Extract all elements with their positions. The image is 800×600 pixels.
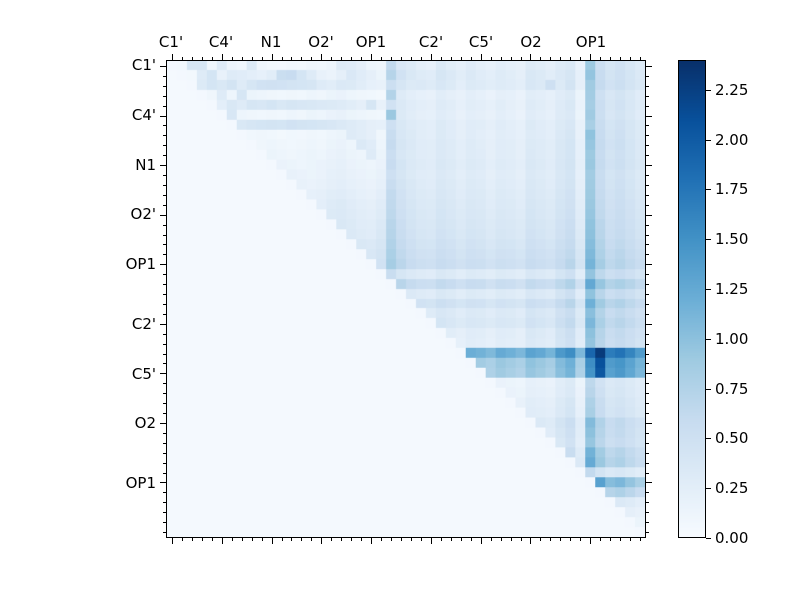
y-tick-right-16 [645,225,649,226]
x-tick-bottom-31 [481,537,482,544]
x-tick-top-6 [232,57,233,61]
y-tick-label-1: C4' [132,106,156,124]
x-tick-top-10 [272,54,273,61]
colorbar-tick-2 [706,438,711,439]
x-tick-top-30 [471,57,472,61]
x-tick-top-1 [182,57,183,61]
x-tick-bottom-41 [580,537,581,541]
colorbar-tick-label-6: 1.50 [715,230,748,248]
y-tick-left-25 [163,314,167,315]
x-tick-top-41 [580,57,581,61]
y-tick-right-18 [645,244,649,245]
y-tick-left-8 [163,145,167,146]
x-tick-top-46 [630,57,631,61]
x-tick-top-9 [262,57,263,61]
y-tick-right-22 [645,284,649,285]
x-tick-bottom-39 [560,537,561,541]
x-tick-top-37 [540,57,541,61]
x-tick-top-17 [341,57,342,61]
y-tick-right-42 [645,482,652,483]
x-tick-top-35 [521,57,522,61]
x-tick-top-47 [640,57,641,61]
x-tick-label-7: O2 [520,33,541,51]
y-tick-right-13 [645,195,649,196]
colorbar-tick-3 [706,389,711,390]
y-tick-right-5 [645,116,652,117]
x-tick-top-28 [451,57,452,61]
colorbar-tick-label-9: 2.25 [715,81,748,99]
x-tick-bottom-43 [600,537,601,541]
y-tick-right-20 [645,264,652,265]
y-tick-left-22 [163,284,167,285]
y-tick-left-24 [163,304,167,305]
x-tick-bottom-27 [441,537,442,541]
y-tick-right-2 [645,86,649,87]
colorbar-tick-1 [706,488,711,489]
x-tick-top-19 [361,57,362,61]
y-tick-right-39 [645,453,649,454]
y-tick-left-37 [163,433,167,434]
y-tick-left-28 [163,344,167,345]
y-tick-label-2: N1 [135,156,156,174]
y-tick-left-44 [163,502,167,503]
x-tick-top-45 [620,57,621,61]
y-tick-left-4 [163,106,167,107]
x-tick-bottom-25 [421,537,422,541]
x-tick-top-38 [550,57,551,61]
x-tick-bottom-42 [590,537,591,544]
y-tick-right-4 [645,106,649,107]
x-tick-bottom-35 [521,537,522,541]
y-tick-left-34 [163,403,167,404]
y-tick-left-7 [163,135,167,136]
colorbar-tick-label-5: 1.25 [715,280,748,298]
y-tick-right-31 [645,373,652,374]
y-tick-left-10 [160,165,167,166]
y-tick-left-39 [163,453,167,454]
x-tick-top-18 [351,57,352,61]
y-tick-right-8 [645,145,649,146]
x-tick-top-43 [600,57,601,61]
y-tick-left-17 [163,235,167,236]
x-tick-bottom-30 [471,537,472,541]
y-tick-left-13 [163,195,167,196]
y-tick-left-29 [163,354,167,355]
x-tick-bottom-4 [212,537,213,541]
y-tick-left-47 [163,532,167,533]
y-tick-right-45 [645,512,649,513]
x-tick-top-25 [421,57,422,61]
x-tick-bottom-29 [461,537,462,541]
y-tick-left-9 [163,155,167,156]
x-tick-bottom-40 [570,537,571,541]
y-tick-right-6 [645,125,649,126]
x-tick-bottom-1 [182,537,183,541]
y-tick-right-28 [645,344,649,345]
y-tick-right-46 [645,522,649,523]
colorbar-tick-label-3: 0.75 [715,380,748,398]
x-tick-top-7 [242,57,243,61]
y-tick-right-23 [645,294,649,295]
y-tick-right-37 [645,433,649,434]
x-tick-label-0: C1' [159,33,183,51]
x-tick-bottom-9 [262,537,263,541]
x-tick-bottom-38 [550,537,551,541]
x-tick-bottom-2 [192,537,193,541]
x-tick-bottom-33 [501,537,502,541]
y-tick-left-19 [163,254,167,255]
x-tick-bottom-23 [401,537,402,541]
x-tick-bottom-16 [331,537,332,541]
x-tick-top-39 [560,57,561,61]
colorbar-tick-8 [706,140,711,141]
colorbar-tick-5 [706,289,711,290]
x-tick-top-34 [511,57,512,61]
colorbar-tick-label-7: 1.75 [715,180,748,198]
x-tick-bottom-34 [511,537,512,541]
y-tick-left-33 [163,393,167,394]
x-tick-bottom-19 [361,537,362,541]
colorbar-tick-label-2: 0.50 [715,429,748,447]
y-tick-right-10 [645,165,652,166]
x-tick-bottom-45 [620,537,621,541]
y-tick-right-43 [645,492,649,493]
x-tick-top-8 [252,57,253,61]
x-tick-top-15 [321,54,322,61]
x-tick-bottom-21 [381,537,382,541]
x-tick-top-0 [172,54,173,61]
y-tick-right-29 [645,354,649,355]
x-tick-label-4: OP1 [356,33,386,51]
matplotlib-figure: C1'C4'N1O2'OP1C2'C5'O2OP1 C1'C4'N1O2'OP1… [0,0,800,600]
y-tick-right-32 [645,383,649,384]
heatmap-image [167,61,645,537]
y-tick-left-26 [160,324,167,325]
y-tick-left-27 [163,334,167,335]
x-tick-bottom-8 [252,537,253,541]
y-tick-left-42 [160,482,167,483]
x-tick-top-29 [461,57,462,61]
x-tick-bottom-3 [202,537,203,541]
x-tick-bottom-15 [321,537,322,544]
x-tick-bottom-32 [491,537,492,541]
x-tick-bottom-26 [431,537,432,544]
y-tick-left-46 [163,522,167,523]
x-tick-top-42 [590,54,591,61]
y-tick-right-1 [645,76,649,77]
y-tick-left-11 [163,175,167,176]
y-tick-left-45 [163,512,167,513]
y-tick-label-3: O2' [131,205,156,223]
colorbar-tick-6 [706,239,711,240]
y-tick-left-31 [160,373,167,374]
x-tick-bottom-10 [272,537,273,544]
x-tick-top-20 [371,54,372,61]
x-tick-top-13 [301,57,302,61]
x-tick-top-16 [331,57,332,61]
y-tick-label-0: C1' [132,56,156,74]
colorbar-tick-9 [706,90,711,91]
colorbar-tick-0 [706,538,711,539]
x-tick-label-1: C4' [209,33,233,51]
y-tick-left-36 [160,423,167,424]
y-tick-right-12 [645,185,649,186]
x-tick-top-24 [411,57,412,61]
x-tick-top-27 [441,57,442,61]
x-tick-bottom-20 [371,537,372,544]
y-tick-right-3 [645,96,649,97]
y-tick-left-21 [163,274,167,275]
x-tick-top-4 [212,57,213,61]
heatmap-axes [166,60,646,538]
x-tick-bottom-14 [311,537,312,541]
y-tick-left-3 [163,96,167,97]
y-tick-right-14 [645,205,649,206]
x-tick-top-5 [222,54,223,61]
x-tick-bottom-6 [232,537,233,541]
x-tick-bottom-46 [630,537,631,541]
y-tick-right-17 [645,235,649,236]
x-tick-top-36 [530,54,531,61]
y-tick-left-5 [160,116,167,117]
colorbar-tick-label-0: 0.00 [715,529,748,547]
y-tick-left-32 [163,383,167,384]
x-tick-top-33 [501,57,502,61]
x-tick-label-2: N1 [261,33,282,51]
y-tick-right-47 [645,532,649,533]
y-tick-right-9 [645,155,649,156]
x-tick-bottom-44 [610,537,611,541]
x-tick-top-44 [610,57,611,61]
y-tick-left-20 [160,264,167,265]
x-tick-top-21 [381,57,382,61]
x-tick-top-2 [192,57,193,61]
x-tick-bottom-7 [242,537,243,541]
x-tick-bottom-47 [640,537,641,541]
y-tick-left-12 [163,185,167,186]
x-tick-bottom-28 [451,537,452,541]
y-tick-left-43 [163,492,167,493]
y-tick-label-8: OP1 [126,474,156,492]
colorbar-gradient [678,60,706,538]
x-tick-bottom-0 [172,537,173,544]
y-tick-left-14 [163,205,167,206]
y-tick-left-1 [163,76,167,77]
y-tick-left-40 [163,463,167,464]
y-tick-left-0 [160,66,167,67]
x-tick-top-40 [570,57,571,61]
colorbar-tick-7 [706,189,711,190]
y-tick-right-19 [645,254,649,255]
x-tick-bottom-22 [391,537,392,541]
y-tick-label-6: C5' [132,365,156,383]
x-tick-top-3 [202,57,203,61]
x-tick-bottom-5 [222,537,223,544]
x-tick-top-11 [282,57,283,61]
y-tick-right-34 [645,403,649,404]
y-tick-right-36 [645,423,652,424]
colorbar-tick-label-8: 2.00 [715,131,748,149]
y-tick-left-35 [163,413,167,414]
x-tick-label-6: C5' [469,33,493,51]
y-tick-right-41 [645,473,649,474]
y-tick-right-24 [645,304,649,305]
y-tick-left-6 [163,125,167,126]
x-tick-top-26 [431,54,432,61]
x-tick-bottom-13 [301,537,302,541]
x-tick-top-12 [291,57,292,61]
y-tick-left-18 [163,244,167,245]
y-tick-right-38 [645,443,649,444]
x-tick-label-5: C2' [419,33,443,51]
y-tick-left-41 [163,473,167,474]
colorbar-tick-label-1: 0.25 [715,479,748,497]
y-tick-right-25 [645,314,649,315]
y-tick-right-40 [645,463,649,464]
x-tick-bottom-37 [540,537,541,541]
y-tick-right-44 [645,502,649,503]
x-tick-top-22 [391,57,392,61]
y-tick-right-15 [645,215,652,216]
y-tick-label-7: O2 [135,414,156,432]
x-tick-bottom-17 [341,537,342,541]
y-tick-label-4: OP1 [126,255,156,273]
x-tick-label-8: OP1 [576,33,606,51]
y-tick-right-30 [645,363,649,364]
x-tick-top-32 [491,57,492,61]
x-tick-bottom-36 [530,537,531,544]
x-tick-label-3: O2' [308,33,333,51]
colorbar-tick-label-4: 1.00 [715,330,748,348]
x-tick-bottom-12 [291,537,292,541]
x-tick-bottom-24 [411,537,412,541]
colorbar: 0.000.250.500.751.001.251.501.752.002.25 [678,60,706,538]
y-tick-right-21 [645,274,649,275]
colorbar-tick-4 [706,339,711,340]
y-tick-left-30 [163,363,167,364]
y-tick-right-33 [645,393,649,394]
y-tick-left-16 [163,225,167,226]
y-tick-left-38 [163,443,167,444]
y-tick-right-27 [645,334,649,335]
x-tick-top-31 [481,54,482,61]
y-tick-right-26 [645,324,652,325]
y-tick-left-23 [163,294,167,295]
y-tick-right-7 [645,135,649,136]
x-tick-top-23 [401,57,402,61]
x-tick-bottom-18 [351,537,352,541]
y-tick-label-5: C2' [132,315,156,333]
y-tick-left-2 [163,86,167,87]
y-tick-right-35 [645,413,649,414]
x-tick-top-14 [311,57,312,61]
y-tick-right-0 [645,66,652,67]
y-tick-right-11 [645,175,649,176]
x-tick-bottom-11 [282,537,283,541]
y-tick-left-15 [160,215,167,216]
